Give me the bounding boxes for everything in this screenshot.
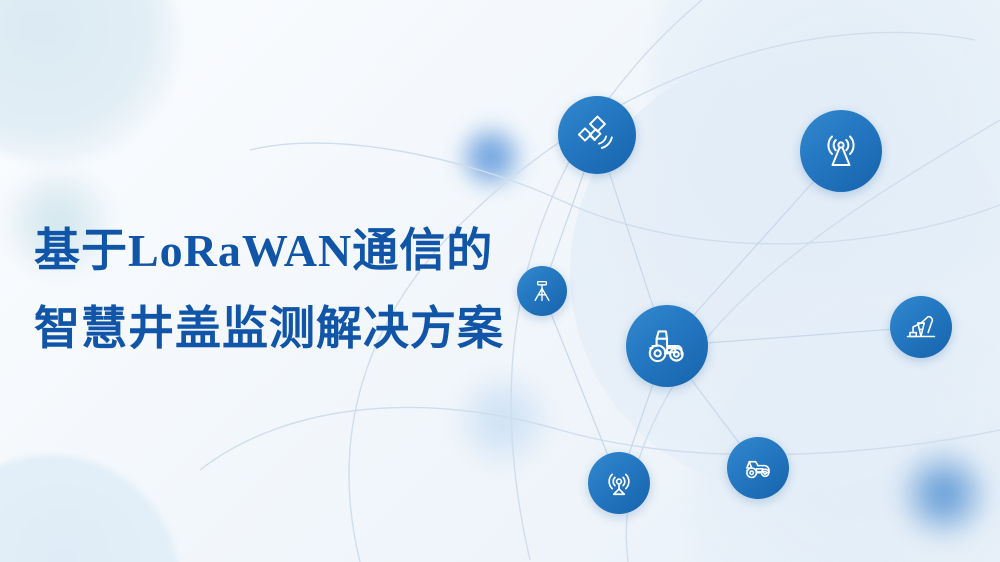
satellite-icon — [558, 96, 636, 174]
satellite-glyph — [574, 112, 620, 158]
tractor-icon — [626, 305, 708, 387]
survey-tripod-glyph — [527, 276, 557, 306]
page-title: 基于LoRaWAN通信的 智慧井盖监测解决方案 — [34, 228, 504, 352]
rover-vehicle-icon — [727, 437, 789, 499]
oil-pump-glyph — [902, 308, 940, 346]
slide-canvas: 基于LoRaWAN通信的 智慧井盖监测解决方案 — [0, 0, 1000, 562]
wireless-sensor-icon — [588, 452, 650, 514]
radio-tower-glyph — [817, 127, 865, 175]
wireless-sensor-glyph — [601, 465, 637, 501]
title-line-1: 基于LoRaWAN通信的 — [34, 228, 504, 274]
oil-pump-icon — [890, 296, 952, 358]
survey-tripod-icon — [517, 266, 567, 316]
title-line-2: 智慧井盖监测解决方案 — [34, 306, 504, 352]
tractor-glyph — [642, 321, 692, 371]
rover-vehicle-glyph — [739, 449, 777, 487]
radio-tower-icon — [800, 110, 882, 192]
